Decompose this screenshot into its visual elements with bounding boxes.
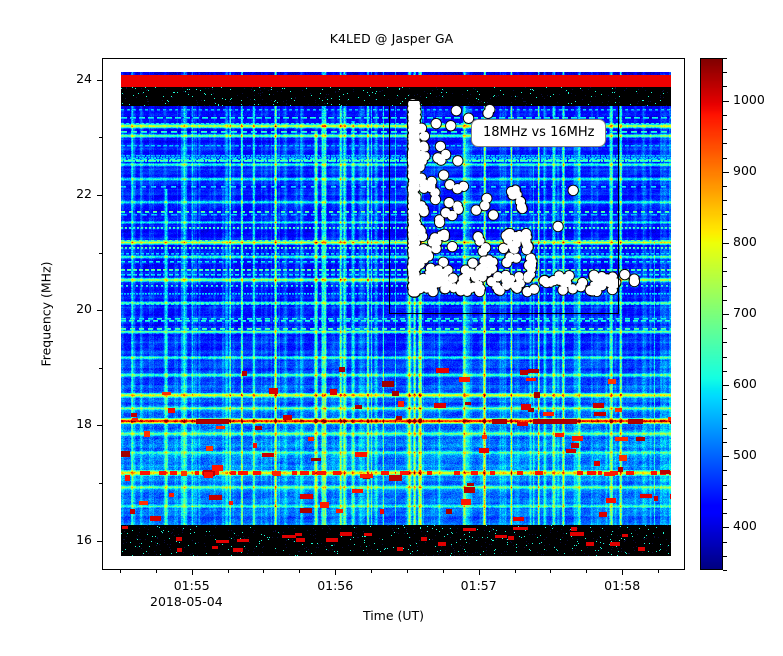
colorbar-gradient — [700, 58, 723, 570]
colorbar-tick-minor — [723, 58, 727, 59]
colorbar-tick-label: 600 — [733, 376, 757, 391]
colorbar-tick-minor — [723, 158, 727, 159]
page-title: K4LED @ Jasper GA — [0, 31, 783, 46]
colorbar-tick-major — [723, 385, 729, 386]
colorbar-tick-minor — [723, 371, 727, 372]
colorbar-tick-major — [723, 172, 729, 173]
colorbar-tick-minor — [723, 513, 727, 514]
y-tick-label: 22 — [28, 186, 92, 201]
x-tick-minor — [586, 570, 587, 573]
colorbar-tick-minor — [723, 229, 727, 230]
y-tick-minor — [99, 253, 102, 254]
colorbar-tick-minor — [723, 442, 727, 443]
colorbar-tick-major — [723, 243, 729, 244]
x-tick-minor — [550, 570, 551, 573]
y-tick-label: 18 — [28, 416, 92, 431]
comparison-label: 18MHz vs 16MHz — [471, 119, 606, 147]
colorbar-tick-label: 400 — [733, 518, 757, 533]
y-tick-major — [97, 80, 102, 81]
colorbar-tick-label: 700 — [733, 305, 757, 320]
y-tick-label: 24 — [28, 71, 92, 86]
colorbar-tick-minor — [723, 485, 727, 486]
x-tick-minor — [515, 570, 516, 573]
colorbar-tick-minor — [723, 428, 727, 429]
x-tick-major — [479, 570, 480, 575]
x-tick-minor — [228, 570, 229, 573]
colorbar-tick-minor — [723, 414, 727, 415]
colorbar-tick-minor — [723, 115, 727, 116]
x-tick-major — [622, 570, 623, 575]
spectrogram-axes[interactable]: 18MHz vs 16MHz — [102, 58, 685, 570]
y-tick-major — [97, 310, 102, 311]
x-tick-minor — [371, 570, 372, 573]
x-tick-minor — [156, 570, 157, 573]
x-tick-label: 01:57 — [439, 578, 519, 593]
colorbar-tick-minor — [723, 357, 727, 358]
y-tick-major — [97, 541, 102, 542]
colorbar-tick-minor — [723, 328, 727, 329]
y-axis-title: Frequency (MHz) — [39, 261, 54, 366]
colorbar-tick-minor — [723, 300, 727, 301]
colorbar-tick-minor — [723, 271, 727, 272]
colorbar-tick-minor — [723, 200, 727, 201]
colorbar-tick-minor — [723, 186, 727, 187]
colorbar-tick-major — [723, 456, 729, 457]
x-tick-label: 01:56 — [295, 578, 375, 593]
x-axis-title: Time (UT) — [102, 608, 685, 623]
x-tick-minor — [263, 570, 264, 573]
y-tick-major — [97, 425, 102, 426]
x-axis-date-label: 2018-05-04 — [150, 594, 223, 609]
colorbar-tick-minor — [723, 286, 727, 287]
colorbar-tick-minor — [723, 556, 727, 557]
colorbar[interactable]: 4005006007008009001000 — [700, 58, 723, 570]
colorbar-tick-minor — [723, 542, 727, 543]
y-tick-major — [97, 195, 102, 196]
x-tick-major — [192, 570, 193, 575]
x-tick-minor — [120, 570, 121, 573]
colorbar-tick-label: 500 — [733, 447, 757, 462]
x-tick-minor — [299, 570, 300, 573]
colorbar-tick-minor — [723, 143, 727, 144]
colorbar-tick-label: 800 — [733, 234, 757, 249]
colorbar-tick-major — [723, 314, 729, 315]
colorbar-tick-minor — [723, 342, 727, 343]
colorbar-tick-minor — [723, 214, 727, 215]
colorbar-tick-minor — [723, 72, 727, 73]
figure-canvas: K4LED @ Jasper GA 18MHz vs 16MHz 1618202… — [0, 0, 783, 656]
colorbar-tick-minor — [723, 86, 727, 87]
x-tick-minor — [443, 570, 444, 573]
colorbar-tick-minor — [723, 257, 727, 258]
colorbar-tick-minor — [723, 129, 727, 130]
colorbar-tick-minor — [723, 499, 727, 500]
colorbar-tick-label: 900 — [733, 163, 757, 178]
x-tick-major — [335, 570, 336, 575]
colorbar-tick-minor — [723, 399, 727, 400]
x-axis: 2018-05-04 Time (UT) 01:5501:5601:5701:5… — [102, 570, 685, 610]
colorbar-tick-minor — [723, 470, 727, 471]
x-tick-minor — [658, 570, 659, 573]
y-tick-minor — [99, 137, 102, 138]
y-tick-minor — [99, 483, 102, 484]
y-tick-minor — [99, 368, 102, 369]
x-tick-minor — [407, 570, 408, 573]
colorbar-tick-major — [723, 527, 729, 528]
colorbar-tick-minor — [723, 570, 727, 571]
x-tick-label: 01:55 — [152, 578, 232, 593]
colorbar-tick-major — [723, 101, 729, 102]
x-tick-label: 01:58 — [582, 578, 662, 593]
y-tick-label: 16 — [28, 532, 92, 547]
colorbar-tick-label: 1000 — [733, 92, 765, 107]
